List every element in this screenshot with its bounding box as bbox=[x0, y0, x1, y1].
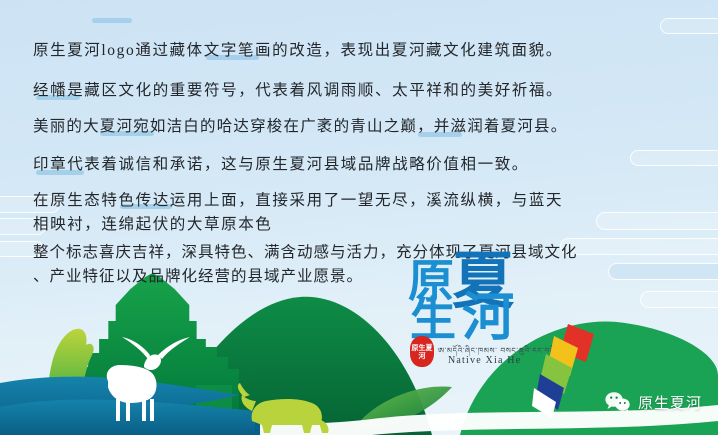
text-line-1: 原生夏河logo通过藏体文字笔画的改造，表现出夏河藏文化建筑面貌。 bbox=[33, 38, 563, 60]
text-line-2: 经幡是藏区文化的重要符号，代表着风调雨顺、太平祥和的美好祈福。 bbox=[33, 78, 563, 100]
logo-latin-tagline: Native Xia He bbox=[448, 355, 521, 366]
description-text-block: 原生夏河logo通过藏体文字笔画的改造，表现出夏河藏文化建筑面貌。 经幡是藏区文… bbox=[0, 0, 718, 290]
text-line-4: 印章代表着诚信和承诺，这与原生夏河县域品牌战略价值相一致。 bbox=[33, 152, 529, 174]
text-line-6: 相映衬，连绵起伏的大草原本色 bbox=[33, 212, 272, 234]
red-seal-stamp: 原生夏河 bbox=[410, 336, 434, 367]
logo-glyph-he: 河 bbox=[462, 292, 514, 344]
seal-text: 原生夏河 bbox=[410, 344, 434, 360]
text-line-3: 美丽的大夏河宛如洁白的哈达穿梭在广袤的青山之巅，并滋润着夏河县。 bbox=[33, 114, 567, 136]
wechat-account-name: 原生夏河 bbox=[638, 392, 702, 413]
text-line-8: 、产业特征以及品牌化经营的县域产业愿景。 bbox=[33, 264, 363, 286]
logo-glyph-sheng: 生 bbox=[410, 296, 456, 342]
wechat-icon bbox=[605, 391, 631, 413]
text-line-5: 在原生态特色传达运用上面，直接采用了一望无尽，溪流纵横，与蓝天 bbox=[33, 188, 563, 210]
wechat-watermark: 原生夏河 bbox=[605, 391, 702, 413]
prayer-flag-ribbons bbox=[532, 318, 610, 418]
poster-canvas: 原生夏河logo通过藏体文字笔画的改造，表现出夏河藏文化建筑面貌。 经幡是藏区文… bbox=[0, 0, 718, 435]
